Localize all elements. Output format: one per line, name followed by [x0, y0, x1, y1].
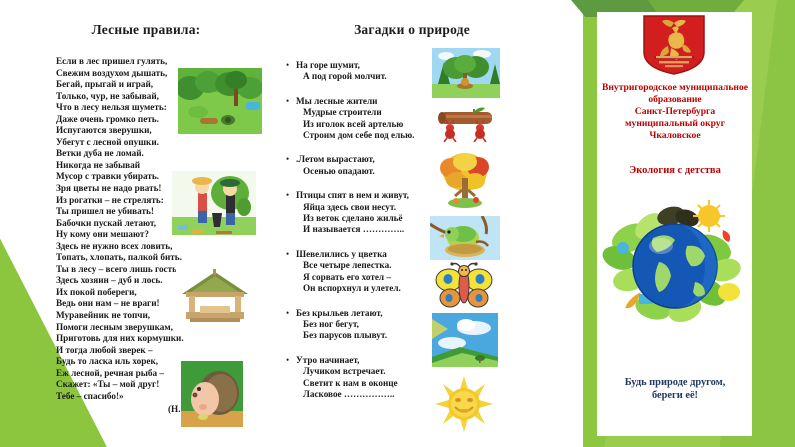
- hedgehog-image: [181, 361, 243, 427]
- list-item: • Утро начинает,Лучиком встречает. Свети…: [286, 355, 540, 401]
- summer-forest-image: [432, 48, 500, 98]
- middle-column-title: Загадки о природе: [284, 22, 540, 38]
- riddle-text: Утро начинает,Лучиком встречает. Светит …: [296, 355, 398, 401]
- list-item: • На горе шумит,А под горой молчит.: [286, 60, 540, 83]
- riddle-text: .Летом вырастают,Осенью опадают.: [296, 154, 375, 177]
- eco-motto: Будь природе другом, береги её!: [598, 376, 752, 402]
- riddle-text: Мы лесные жителиМудрые строители Из игол…: [296, 96, 414, 142]
- ants-carrying-log-image: [430, 104, 502, 142]
- bullet-icon: •: [286, 308, 296, 342]
- list-item: • Птицы спят в нем и живут,Яйца здесь св…: [286, 190, 540, 236]
- riddle-text: Шевелились у цветкаВсе четыре лепестка. …: [296, 249, 401, 295]
- bullet-icon: •: [286, 190, 296, 236]
- children-cleaning-litter-image: [172, 163, 256, 243]
- presentation-slide: Лесные правила: Если в лес пришел гулять…: [0, 0, 795, 447]
- sky-clouds-field-image: [432, 313, 498, 367]
- forest-clearing-image: [178, 68, 262, 134]
- sun-image: [435, 376, 493, 432]
- bullet-icon: •: [286, 96, 296, 142]
- list-item: • .Летом вырастают,Осенью опадают.: [286, 154, 540, 177]
- list-item: • Без крыльев летают,Без ног бегут, Без …: [286, 308, 540, 342]
- left-column-title: Лесные правила:: [18, 22, 274, 38]
- bullet-icon: •: [286, 154, 296, 177]
- bullet-icon: •: [286, 60, 296, 83]
- eco-slogan: Экология с детства: [600, 165, 750, 176]
- bird-in-nest-image: [430, 216, 500, 260]
- list-item: • Шевелились у цветкаВсе четыре лепестка…: [286, 249, 540, 295]
- bird-feeder-image: [176, 268, 254, 330]
- butterfly-image: [435, 262, 493, 316]
- middle-column: Загадки о природе • На горе шумит,А под …: [278, 12, 540, 442]
- chkalovskoe-coat-of-arms: [641, 14, 707, 76]
- riddle-text: Без крыльев летают,Без ног бегут, Без па…: [296, 308, 387, 342]
- bullet-icon: •: [286, 249, 296, 295]
- riddle-text: На горе шумит,А под горой молчит.: [296, 60, 387, 83]
- bullet-icon: •: [286, 355, 296, 401]
- eco-globe-image: [601, 196, 749, 348]
- organization-name: Внутригородское муниципальное образовани…: [600, 82, 750, 142]
- riddle-text: Птицы спят в нем и живут,Яйца здесь свои…: [296, 190, 409, 236]
- autumn-tree-image: [434, 150, 496, 212]
